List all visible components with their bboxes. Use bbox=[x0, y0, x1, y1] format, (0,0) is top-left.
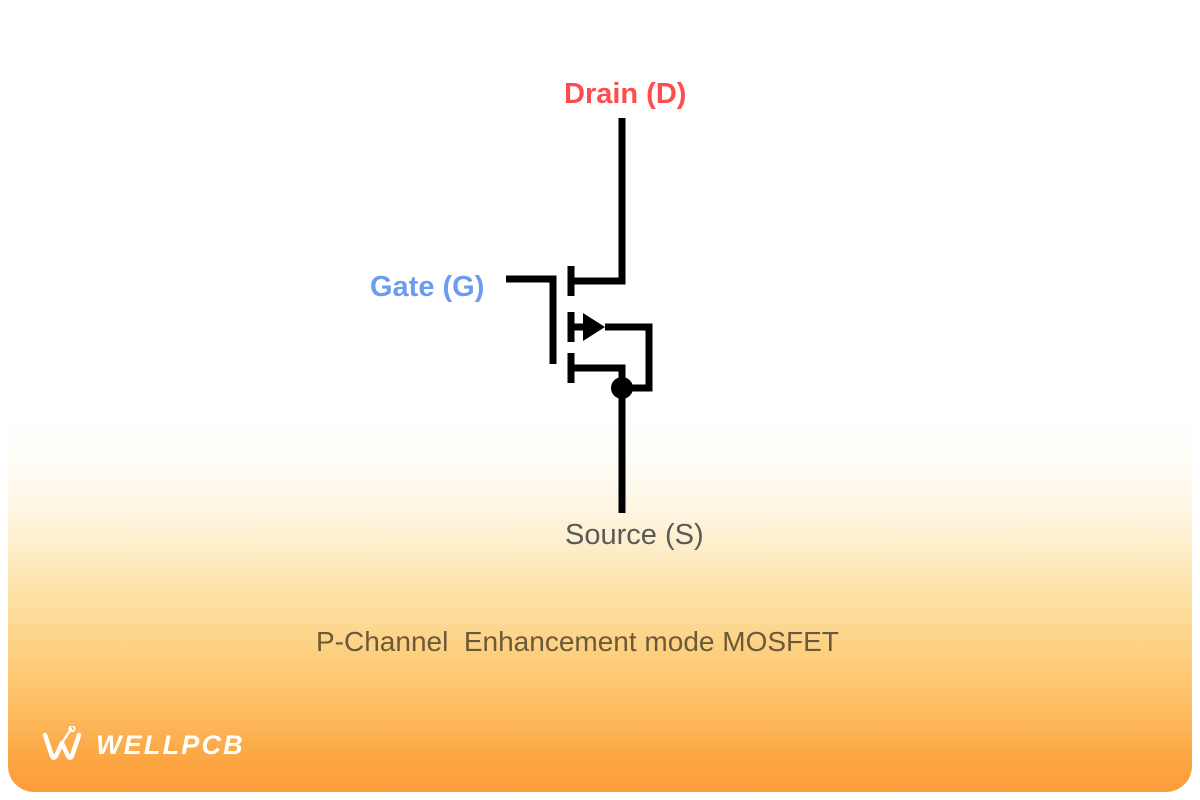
drain-lead bbox=[584, 118, 622, 281]
diagram-card: Drain (D) Gate (G) Source (S) P-Channel … bbox=[8, 8, 1192, 792]
wellpcb-wordmark: WELLPCB bbox=[96, 732, 245, 759]
diagram-caption: P-Channel Enhancement mode MOSFET bbox=[316, 628, 839, 656]
drain-terminal-label: Drain (D) bbox=[564, 80, 686, 109]
gate-lead bbox=[506, 279, 553, 364]
body-arrow-icon bbox=[583, 313, 605, 341]
gate-terminal-label: Gate (G) bbox=[370, 273, 484, 302]
wellpcb-w-mark-icon bbox=[41, 726, 87, 764]
source-terminal-label: Source (S) bbox=[565, 521, 704, 550]
wellpcb-watermark: WELLPCB bbox=[41, 726, 245, 764]
diagram-canvas: Drain (D) Gate (G) Source (S) P-Channel … bbox=[0, 0, 1200, 800]
mosfet-schematic bbox=[8, 8, 1192, 792]
source-body-junction-dot bbox=[611, 377, 633, 399]
